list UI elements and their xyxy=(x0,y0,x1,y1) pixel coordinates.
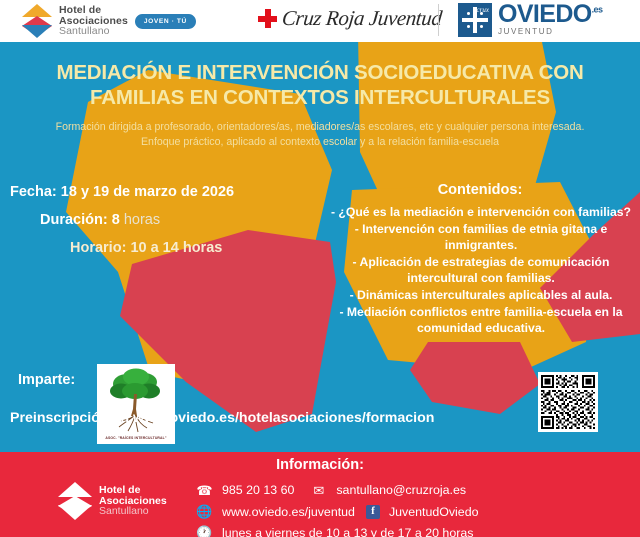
oviedo-subtitle: JUVENTUD xyxy=(498,27,602,36)
contact-row-hours: 🕐 lunes a viernes de 10 a 13 y de 17 a 2… xyxy=(196,522,479,537)
cruz-roja-text: Cruz Roja Juventud xyxy=(281,6,443,31)
contenidos-list: - ¿Qué es la mediación e intervención co… xyxy=(328,204,634,337)
hotel-diamond-icon xyxy=(22,4,52,38)
contenidos-item: - ¿Qué es la mediación e intervención co… xyxy=(328,204,634,221)
footer-logo-line1: Hotel de xyxy=(99,485,167,496)
poster: Hotel de Asociaciones Santullano JOVEN ·… xyxy=(0,0,640,537)
globe-icon: 🌐 xyxy=(196,501,213,522)
contenidos-item: - Dinámicas interculturales aplicables a… xyxy=(328,287,634,304)
cruz-roja-juventud-logo: Cruz Roja Juventud xyxy=(258,6,442,31)
clock-icon: 🕐 xyxy=(196,522,213,537)
page-title: MEDIACIÓN E INTERVENCIÓN SOCIOEDUCATIVA … xyxy=(28,60,612,110)
imparte-label: Imparte: xyxy=(18,372,75,388)
mail-icon: ✉ xyxy=(310,480,327,501)
contenidos-item: - Mediación conflictos entre familia-esc… xyxy=(328,304,634,337)
oviedo-juventud-logo: crux OVIEDO.es JUVENTUD xyxy=(458,3,602,37)
oviedo-wordmark: OVIEDO.es xyxy=(498,3,602,26)
oviedo-name: OVIEDO xyxy=(498,0,592,28)
phone-icon: ☎ xyxy=(196,480,213,501)
email-address[interactable]: santullano@cruzroja.es xyxy=(336,480,466,500)
contenidos-title: Contenidos: xyxy=(330,182,630,198)
footer-contact-bar: Información: Hotel de Asociaciones Santu… xyxy=(0,452,640,537)
contact-row-web: 🌐 www.oviedo.es/juventud f JuventudOvied… xyxy=(196,501,479,522)
horario-value: 10 a 14 horas xyxy=(130,240,222,256)
hotel-logo-line3: Santullano xyxy=(59,26,128,37)
footer-hotel-logo: Hotel de Asociaciones Santullano xyxy=(58,482,167,520)
fecha-label: Fecha: xyxy=(10,184,57,200)
oviedo-shield-icon: crux xyxy=(458,3,492,37)
hotel-asociaciones-logo: Hotel de Asociaciones Santullano JOVEN ·… xyxy=(22,4,196,38)
oviedo-suffix: .es xyxy=(592,5,603,15)
contenidos-item: - Aplicación de estrategias de comunicac… xyxy=(328,254,634,287)
tree-icon xyxy=(97,364,175,438)
informacion-title: Información: xyxy=(0,457,640,473)
contenidos-item: - Intervención con familias de etnia git… xyxy=(328,221,634,254)
poster-body: MEDIACIÓN E INTERVENCIÓN SOCIOEDUCATIVA … xyxy=(0,42,640,497)
raices-logo-caption: ASOC. "RAÍCES INTERCULTURAL" xyxy=(97,436,175,440)
phone-number: 985 20 13 60 xyxy=(222,480,294,500)
header-divider xyxy=(438,4,439,36)
duracion-label: Duración: xyxy=(40,212,108,228)
red-cross-icon xyxy=(258,9,277,28)
header-logo-bar: Hotel de Asociaciones Santullano JOVEN ·… xyxy=(0,0,640,42)
footer-contact-list: ☎ 985 20 13 60 ✉ santullano@cruzroja.es … xyxy=(196,480,479,537)
poster-content: MEDIACIÓN E INTERVENCIÓN SOCIOEDUCATIVA … xyxy=(0,42,640,497)
qr-code[interactable] xyxy=(538,372,598,432)
hotel-logo-text: Hotel de Asociaciones Santullano xyxy=(59,5,128,37)
opening-hours: lunes a viernes de 10 a 13 y de 17 a 20 … xyxy=(222,523,473,537)
duracion-value: 8 xyxy=(112,212,120,228)
duracion-unit: horas xyxy=(124,212,160,228)
page-subtitle: Formación dirigida a profesorado, orient… xyxy=(46,120,594,151)
fecha-value: 18 y 19 de marzo de 2026 xyxy=(61,184,234,200)
contact-row-phone: ☎ 985 20 13 60 ✉ santullano@cruzroja.es xyxy=(196,480,479,501)
hotel-diamond-icon xyxy=(58,482,92,520)
raices-intercultural-logo: ASOC. "RAÍCES INTERCULTURAL" xyxy=(97,364,175,444)
footer-logo-line3: Santullano xyxy=(99,506,167,517)
horario-line: Horario: 10 a 14 horas xyxy=(70,240,222,256)
crux-text: crux xyxy=(477,6,489,14)
website-url[interactable]: www.oviedo.es/juventud xyxy=(222,502,355,522)
horario-label: Horario: xyxy=(70,240,126,256)
facebook-handle[interactable]: JuventudOviedo xyxy=(389,502,479,522)
fecha-line: Fecha: 18 y 19 de marzo de 2026 xyxy=(10,184,234,200)
footer-hotel-logo-text: Hotel de Asociaciones Santullano xyxy=(99,485,167,518)
duracion-line: Duración: 8 horas xyxy=(40,212,160,228)
facebook-icon[interactable]: f xyxy=(366,505,380,519)
preinscripcion-text: Preinscripción en www.oviedo.es/hotelaso… xyxy=(10,410,434,426)
joven-tu-badge: JOVEN · TÚ xyxy=(135,14,196,29)
qr-code-icon xyxy=(541,375,595,429)
